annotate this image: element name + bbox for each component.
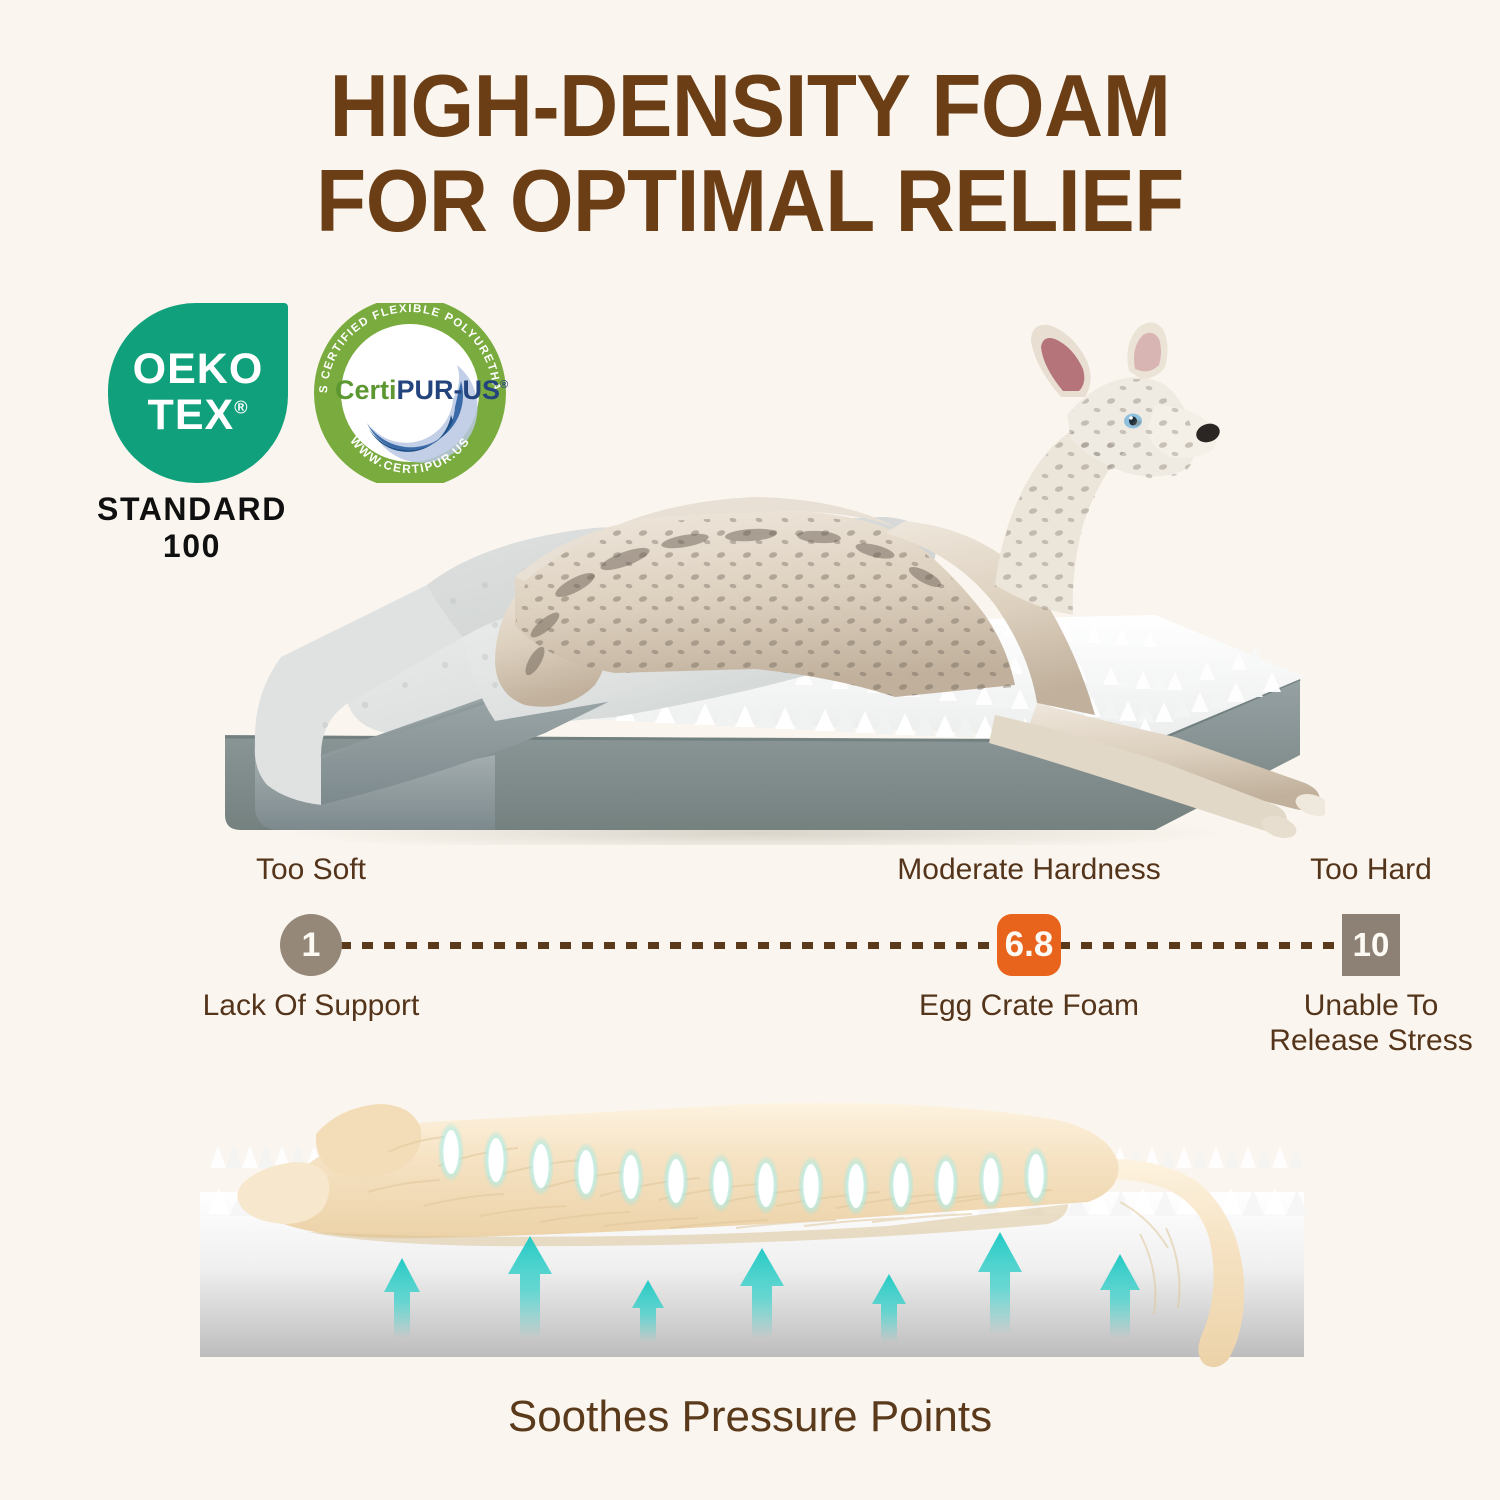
scale-marker-current-value: 6.8 — [1005, 925, 1054, 965]
product-scene-bolster-bed — [195, 285, 1325, 845]
scale-max-top-label: Too Hard — [1261, 852, 1481, 887]
scale-current-bottom-label: Egg Crate Foam — [879, 988, 1179, 1023]
scale-marker-current[interactable]: 6.8 — [997, 914, 1061, 976]
scale-dash-left — [340, 942, 1000, 949]
scale-min-top-label: Too Soft — [211, 852, 411, 887]
scale-current-top-label: Moderate Hardness — [879, 852, 1179, 887]
scale-marker-min-value: 1 — [302, 926, 321, 965]
hardness-scale: Too Soft Moderate Hardness Too Hard 1 6.… — [180, 852, 1330, 1052]
scale-marker-max[interactable]: 10 — [1342, 914, 1400, 976]
scale-track: 1 6.8 10 — [180, 914, 1330, 976]
page-title: HIGH-DENSITY FOAM FOR OPTIMAL RELIEF — [53, 58, 1448, 248]
scale-dash-right — [1059, 942, 1345, 949]
bottom-caption: Soothes Pressure Points — [0, 1392, 1500, 1442]
scale-min-bottom-label: Lack Of Support — [161, 988, 461, 1023]
scale-marker-max-value: 10 — [1353, 926, 1390, 964]
scale-marker-min[interactable]: 1 — [280, 914, 342, 976]
pressure-points-scene — [188, 1042, 1316, 1380]
